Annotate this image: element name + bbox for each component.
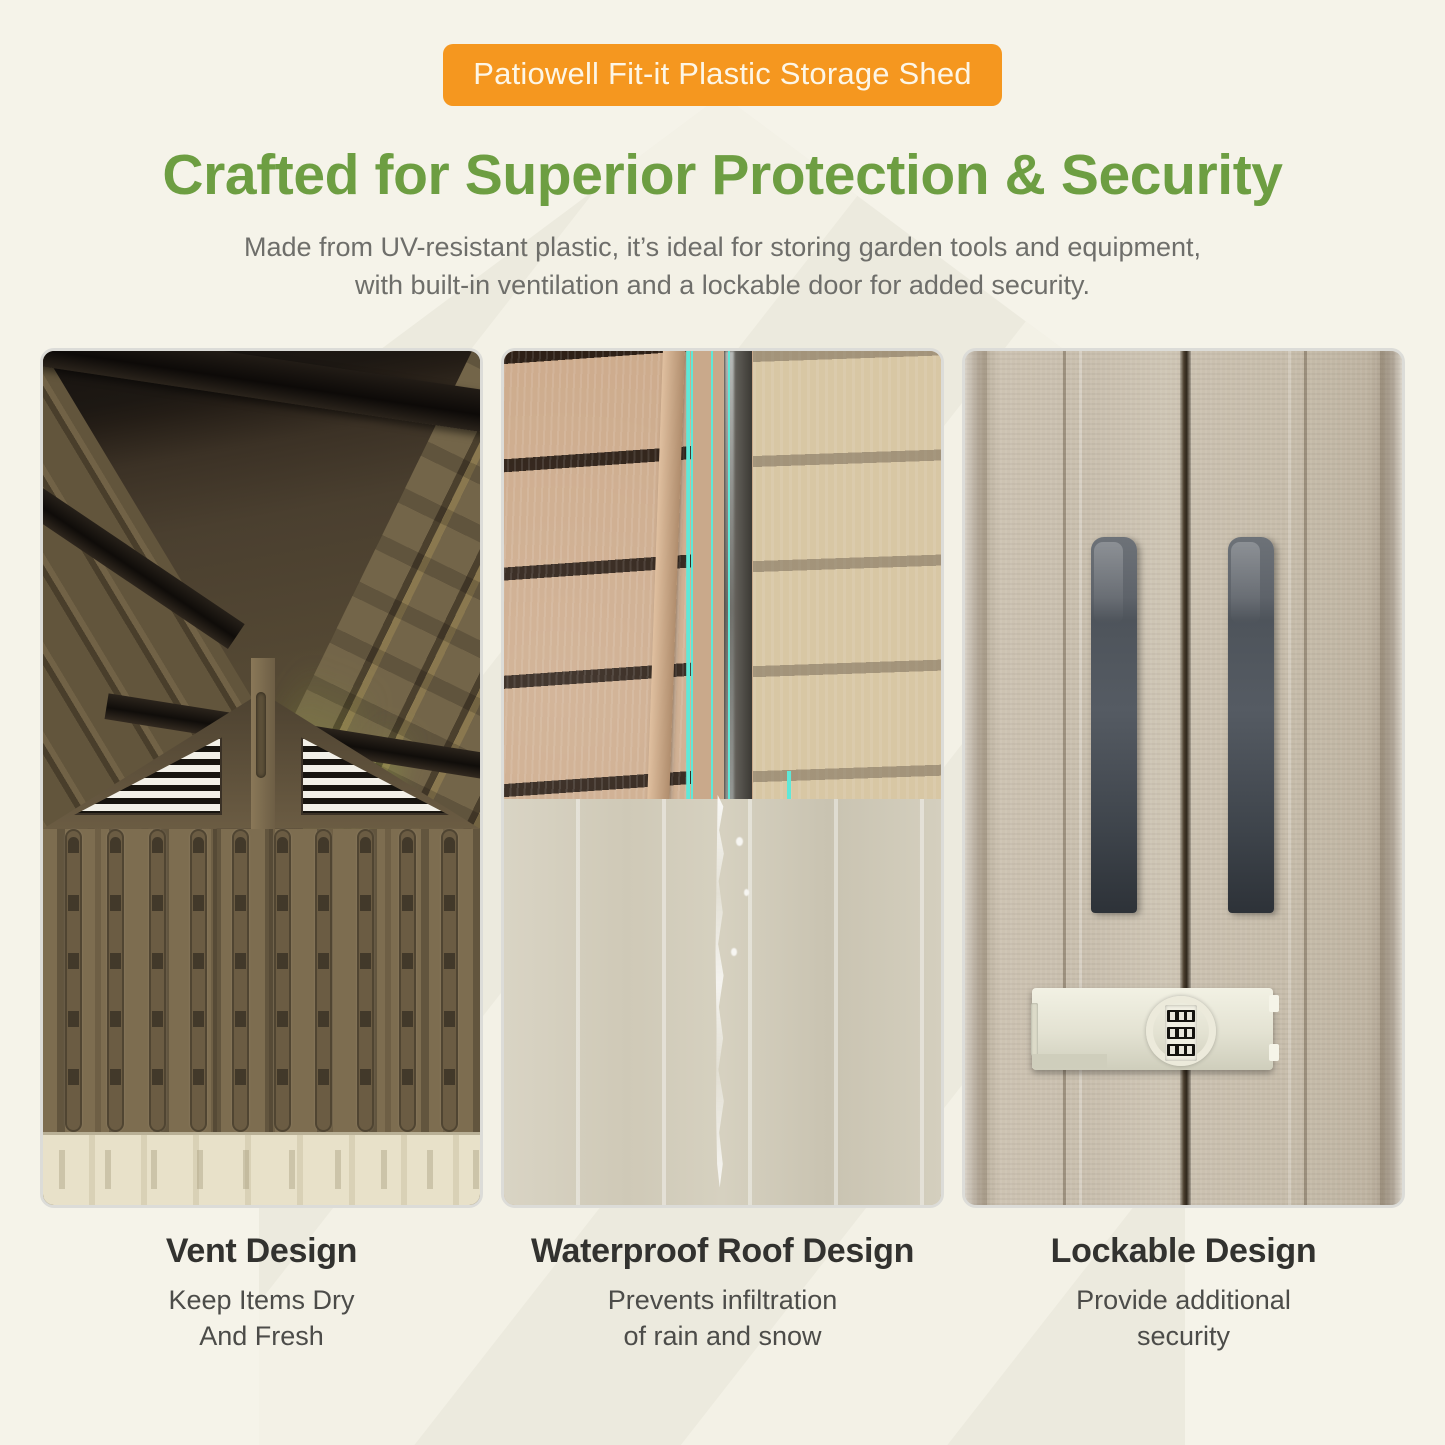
caption-sub-line-1: Provide additional xyxy=(962,1282,1405,1318)
feature-card-vent-design: Vent Design Keep Items Dry And Fresh xyxy=(40,348,483,1355)
lock-hasp-tab xyxy=(1269,1044,1279,1061)
caption-sub-line-1: Prevents infiltration xyxy=(501,1282,944,1318)
product-title-badge: Patiowell Fit-it Plastic Storage Shed xyxy=(443,44,1001,106)
waterproof-roof-photo xyxy=(501,348,944,1208)
lock-hasp-hinge xyxy=(1031,1003,1038,1056)
door-handle-right xyxy=(1228,537,1274,913)
wall-rib xyxy=(274,829,291,1132)
cream-base-strip xyxy=(43,1132,480,1205)
wall-rib xyxy=(441,829,458,1132)
wall-rib xyxy=(107,829,124,1132)
feature-card-lockable-design: Lockable Design Provide additional secur… xyxy=(962,348,1405,1355)
lock-hasp-tab xyxy=(1269,995,1279,1012)
lockable-design-photo xyxy=(962,348,1405,1208)
wall-rib-group xyxy=(43,829,480,1132)
combination-dial xyxy=(1167,1027,1195,1039)
wall-rib xyxy=(65,829,82,1132)
wall-rib xyxy=(315,829,332,1132)
caption-title-vent-design: Vent Design xyxy=(40,1232,483,1271)
caption-sub-line-2: security xyxy=(962,1318,1405,1354)
caption-subtitle-vent-design: Keep Items Dry And Fresh xyxy=(40,1282,483,1355)
wall-rib xyxy=(190,829,207,1132)
title-badge-row: Patiowell Fit-it Plastic Storage Shed xyxy=(0,0,1445,106)
infographic-page: Patiowell Fit-it Plastic Storage Shed Cr… xyxy=(0,0,1445,1355)
door-groove xyxy=(1063,351,1066,1205)
wall-rib xyxy=(232,829,249,1132)
door-groove xyxy=(1288,351,1291,1205)
subheadline-line-1: Made from UV-resistant plastic, it’s ide… xyxy=(0,228,1445,266)
combination-lock-dials xyxy=(1165,1005,1198,1061)
door-groove xyxy=(1304,351,1307,1205)
caption-subtitle-lockable-design: Provide additional security xyxy=(962,1282,1405,1355)
door-edge-left xyxy=(965,351,987,1205)
feature-card-waterproof-roof-design: Waterproof Roof Design Prevents infiltra… xyxy=(501,348,944,1355)
caption-title-lockable-design: Lockable Design xyxy=(962,1232,1405,1271)
caption-subtitle-waterproof-roof-design: Prevents infiltration of rain and snow xyxy=(501,1282,944,1355)
feature-panels: Vent Design Keep Items Dry And Fresh xyxy=(0,348,1445,1355)
page-subheadline: Made from UV-resistant plastic, it’s ide… xyxy=(0,228,1445,305)
door-edge-right xyxy=(1380,351,1402,1205)
combination-dial xyxy=(1167,1010,1195,1022)
page-headline: Crafted for Superior Protection & Securi… xyxy=(0,142,1445,208)
water-droplet xyxy=(736,837,743,846)
door-groove xyxy=(1079,351,1082,1205)
combination-dial xyxy=(1167,1044,1195,1056)
lock-hasp-step xyxy=(1032,1054,1106,1068)
caption-sub-line-1: Keep Items Dry xyxy=(40,1282,483,1318)
cyan-highlight-line-mid xyxy=(711,351,713,808)
wall-rib xyxy=(357,829,374,1132)
door-center-seam xyxy=(1180,351,1191,1205)
caption-title-waterproof-roof-design: Waterproof Roof Design xyxy=(501,1232,944,1271)
wall-rib xyxy=(399,829,416,1132)
caption-sub-line-2: of rain and snow xyxy=(501,1318,944,1354)
caption-sub-line-2: And Fresh xyxy=(40,1318,483,1354)
door-handle-left xyxy=(1091,537,1137,913)
subheadline-line-2: with built-in ventilation and a lockable… xyxy=(0,266,1445,304)
gable-post-slot xyxy=(256,692,266,777)
vent-design-photo xyxy=(40,348,483,1208)
cyan-highlight-line-right xyxy=(728,351,730,808)
wall-rib xyxy=(149,829,166,1132)
